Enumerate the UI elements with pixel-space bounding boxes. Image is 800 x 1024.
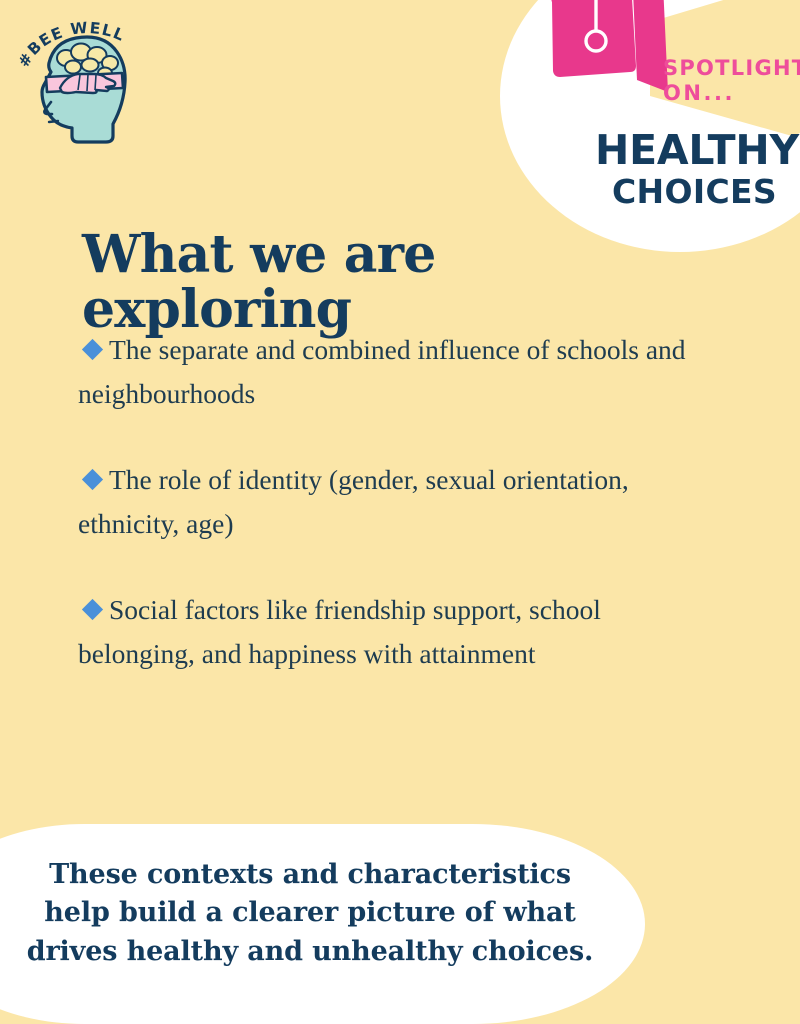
footer-callout: These contexts and characteristics help … bbox=[0, 824, 645, 1024]
spotlight-label-line2: ON... bbox=[663, 81, 735, 105]
page-title: What we are exploring bbox=[82, 228, 702, 337]
list-item-text: Social factors like friendship support, … bbox=[78, 594, 601, 669]
list-item-text: The role of identity (gender, sexual ori… bbox=[78, 464, 629, 539]
diamond-bullet-icon bbox=[82, 599, 103, 620]
badge-topic-line1: HEALTHY bbox=[595, 126, 799, 174]
list-item-text: The separate and combined influence of s… bbox=[78, 334, 686, 409]
list-item: The separate and combined influence of s… bbox=[78, 328, 718, 416]
badge-topic-line2: CHOICES bbox=[612, 172, 777, 211]
spotlight-label-line1: SPOTLIGHT bbox=[663, 56, 800, 80]
spotlight-badge: SPOTLIGHT ON... HEALTHY CHOICES bbox=[500, 0, 800, 252]
footer-text: These contexts and characteristics help … bbox=[25, 856, 595, 971]
list-item: The role of identity (gender, sexual ori… bbox=[78, 458, 718, 546]
list-item: Social factors like friendship support, … bbox=[78, 588, 718, 676]
diamond-bullet-icon bbox=[82, 339, 103, 360]
brand-logo: #BEE WELL bbox=[18, 16, 148, 156]
exploring-list: The separate and combined influence of s… bbox=[78, 328, 718, 676]
diamond-bullet-icon bbox=[82, 469, 103, 490]
